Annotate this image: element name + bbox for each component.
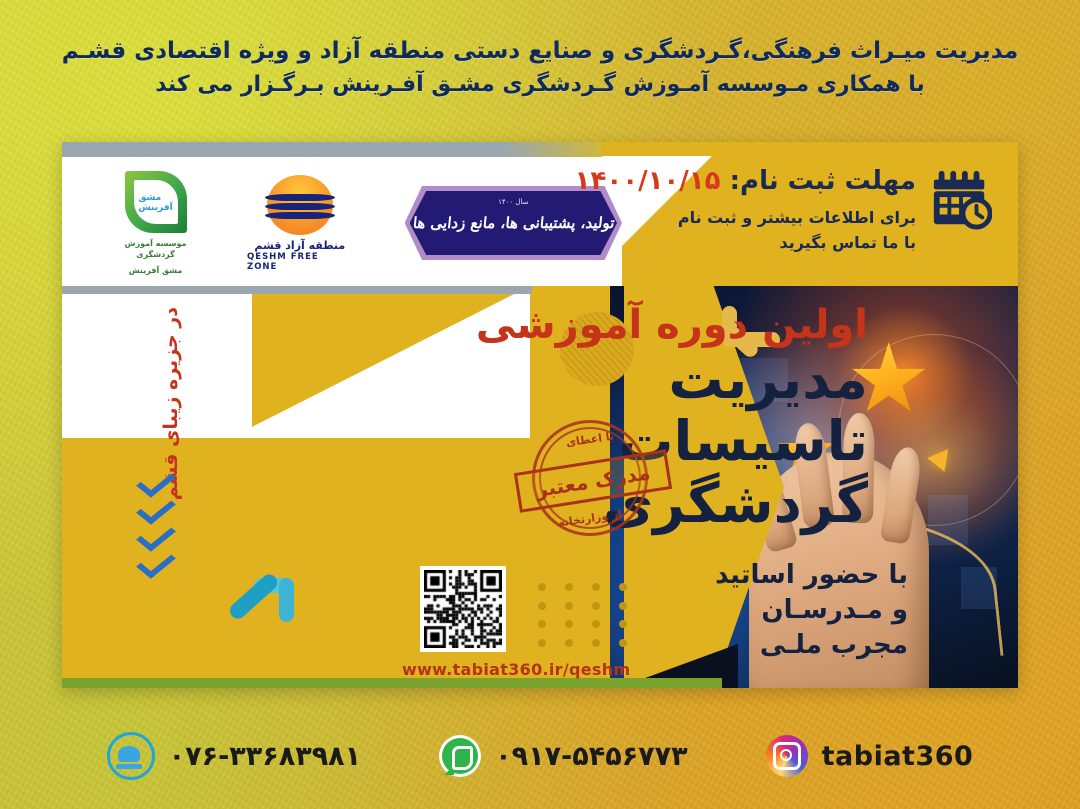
header-line-2: با همکاری مـوسسه آمـوزش گـردشگری مشـق آف…	[0, 68, 1080, 102]
chevron-down-icon	[136, 492, 176, 524]
institute-logo: مشق آفرینش موسسه آموزش گردشگری مشق آفرین…	[104, 171, 207, 276]
whatsapp-icon	[439, 735, 481, 777]
contact-whatsapp[interactable]: ۰۹۱۷-۵۴۵۶۷۷۳	[439, 735, 687, 777]
chevron-down-icon	[136, 519, 176, 551]
contact-phone[interactable]: ۰۷۶-۳۳۶۸۳۹۸۱	[107, 732, 361, 780]
website-url[interactable]: www.tabiat360.ir/qeshm	[402, 660, 630, 679]
qr-code[interactable]	[420, 566, 506, 652]
deadline-sub-2: با ما تماس بگیرید	[575, 230, 916, 255]
course-eyebrow: اولین دوره آموزشی	[448, 302, 868, 348]
deadline-date: ۱۴۰۰/۱۰/۱۵	[575, 166, 721, 196]
contact-footer: ۰۷۶-۳۳۶۸۳۹۸۱ ۰۹۱۷-۵۴۵۶۷۷۳ tabiat360	[0, 725, 1080, 787]
free-zone-logo: منطقه آزاد قشم QESHM FREE ZONE	[247, 175, 353, 272]
registration-deadline-block: مهلت ثبت نام: ۱۴۰۰/۱۰/۱۵ برای اطلاعات بی…	[592, 164, 992, 255]
calendar-clock-icon	[930, 168, 992, 230]
header-line-1: مدیریت میـراث فرهنگی،گـردشگری و صنایع دس…	[0, 34, 1080, 68]
telephone-icon	[107, 732, 155, 780]
sun-waves-logo-icon	[267, 175, 333, 235]
course-title-line-1: مدیریت	[448, 348, 868, 410]
contact-whatsapp-value: ۰۹۱۷-۵۴۵۶۷۷۳	[495, 741, 687, 772]
chevron-arrows-decor	[140, 472, 172, 580]
tabiat360-brand-icon	[230, 578, 298, 644]
deadline-label: مهلت ثبت نام:	[730, 166, 916, 196]
contact-phone-value: ۰۷۶-۳۳۶۸۳۹۸۱	[169, 741, 361, 772]
leaf-logo-mark: مشق آفرینش	[138, 193, 172, 213]
year-label: سال ۱۴۰۰	[498, 198, 528, 206]
deadline-sub-1: برای اطلاعات بیشتر و ثبت نام	[575, 205, 916, 230]
poster-header: مدیریت میـراث فرهنگی،گـردشگری و صنایع دس…	[0, 34, 1080, 102]
leaf-logo-icon: مشق آفرینش	[125, 171, 187, 233]
chevron-down-icon	[136, 546, 176, 578]
free-zone-caption-en: QESHM FREE ZONE	[247, 252, 353, 272]
course-title-block: اولین دوره آموزشی مدیریت تاسیسات گردشگری	[448, 302, 868, 534]
certificate-seal-stamp: با اعطای مدرک معتبر از وزارتخانه	[532, 420, 648, 536]
deadline-title: مهلت ثبت نام: ۱۴۰۰/۱۰/۱۵	[575, 166, 916, 196]
strip-bottom-rule	[62, 286, 532, 294]
strip-top-rule	[62, 142, 602, 157]
instagram-icon	[766, 735, 808, 777]
institute-caption-2: مشق آفرینش	[129, 265, 183, 276]
white-wedge-left	[62, 286, 252, 438]
contact-instagram[interactable]: tabiat360	[766, 735, 974, 777]
instructors-line-3: مجرب ملـی	[678, 628, 908, 663]
instructors-block: با حضور اساتید و مـدرسـان مجرب ملـی	[678, 558, 908, 663]
dot-grid-decor	[528, 578, 636, 652]
instructors-line-2: و مـدرسـان	[678, 593, 908, 628]
contact-instagram-value: tabiat360	[822, 741, 974, 772]
logo-strip: مشق آفرینش موسسه آموزش گردشگری مشق آفرین…	[62, 156, 622, 286]
institute-caption-1: موسسه آموزش گردشگری	[104, 238, 207, 260]
banner-bottom-bar	[62, 678, 722, 688]
instructors-line-1: با حضور اساتید	[678, 558, 908, 593]
event-banner: مشق آفرینش موسسه آموزش گردشگری مشق آفرین…	[62, 142, 1018, 688]
free-zone-caption-fa: منطقه آزاد قشم	[254, 239, 345, 252]
